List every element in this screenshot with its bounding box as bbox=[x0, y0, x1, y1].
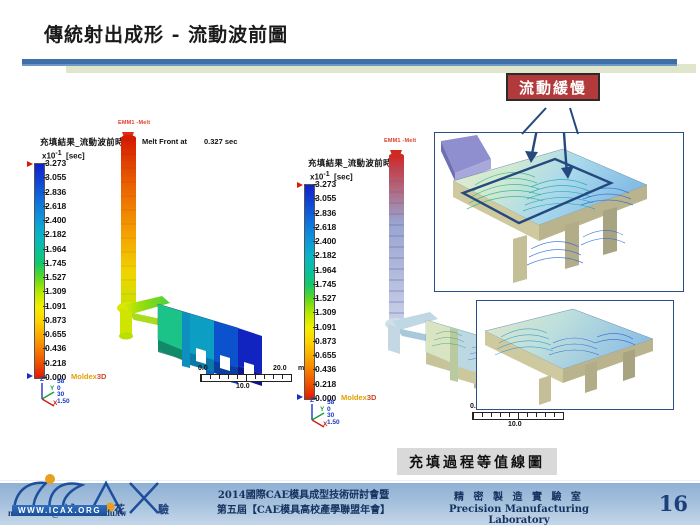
colorbar-tick-label: 0.655 bbox=[45, 330, 66, 339]
colorbar-tick-label: 0.436 bbox=[45, 344, 66, 353]
colorbar-tick-label: 2.836 bbox=[315, 209, 336, 218]
colorbar-tick-label: 2.182 bbox=[315, 251, 336, 260]
colorbar-tick-label: 0.873 bbox=[315, 337, 336, 346]
left-melt-inlet-label: EMM1 -Melt bbox=[118, 120, 150, 126]
left-colorbar-min-arrow-icon bbox=[27, 373, 33, 379]
right-colorbar-min-arrow-icon bbox=[297, 394, 303, 400]
page-title: 傳統射出成形 - 流動波前圖 bbox=[44, 20, 288, 47]
colorbar-tick-label: 1.964 bbox=[45, 245, 66, 254]
right-units-exponent: -1 bbox=[323, 171, 329, 178]
colorbar-tick-label: 3.273 bbox=[315, 180, 336, 189]
right-units-unit: [sec] bbox=[334, 173, 353, 182]
page-number: 16 bbox=[659, 491, 688, 516]
caption-fill-contour: 充填過程等值線圖 bbox=[397, 448, 557, 475]
right-axis-triad: Z Y X 58 0 30 1.50 bbox=[305, 400, 351, 432]
footer-bar: 誠 花 驗 m10205210@mail.ntust.edu.tw WWW.IC… bbox=[0, 481, 700, 525]
right-ruler-bar bbox=[472, 412, 564, 420]
colorbar-tick-label: 2.182 bbox=[45, 230, 66, 239]
left-axis-z: Z bbox=[40, 376, 44, 383]
right-axis-y: Y bbox=[320, 406, 324, 413]
colorbar-tick-label: 2.618 bbox=[315, 223, 336, 232]
footer-website-badge[interactable]: WWW.ICAX.ORG bbox=[12, 505, 107, 516]
colorbar-tick-label: 1.745 bbox=[315, 280, 336, 289]
slide-root: 傳統射出成形 - 流動波前圖 充填結果_流動波前時間 x10-1 [sec] 3… bbox=[0, 0, 700, 525]
svg-text:驗: 驗 bbox=[158, 502, 169, 516]
right-colorbar-max-arrow-icon bbox=[297, 182, 303, 188]
left-ruler-min: 0.0 bbox=[198, 365, 208, 372]
left-ruler-mid: 10.0 bbox=[236, 383, 250, 390]
left-colorbar-gradient bbox=[34, 163, 45, 379]
left-colorbar-max-arrow-icon bbox=[27, 161, 33, 167]
right-axis-values: 58 0 30 1.50 bbox=[327, 400, 340, 426]
colorbar-tick-label: 2.836 bbox=[45, 188, 66, 197]
colorbar-tick-label: 1.745 bbox=[45, 259, 66, 268]
contour-detail-graphic bbox=[477, 301, 671, 407]
colorbar-tick-label: 0.218 bbox=[315, 380, 336, 389]
colorbar-tick-label: 3.273 bbox=[45, 159, 66, 168]
right-ruler-mid: 10.0 bbox=[508, 421, 522, 428]
colorbar-tick-label: 2.400 bbox=[315, 237, 336, 246]
colorbar-tick-label: 3.055 bbox=[315, 194, 336, 203]
colorbar-tick-label: 0.655 bbox=[315, 351, 336, 360]
left-units-exponent: -1 bbox=[55, 150, 61, 157]
colorbar-tick-label: 2.618 bbox=[45, 202, 66, 211]
footer-conference: 2014國際CAE模具成型技術研討會暨 第五屆【CAE模具高校產學聯盟年會】 bbox=[196, 488, 411, 518]
contour-zoom-inset bbox=[434, 132, 684, 292]
footer-conference-line1: 2014國際CAE模具成型技術研討會暨 bbox=[196, 488, 411, 503]
colorbar-tick-label: 1.964 bbox=[315, 266, 336, 275]
right-melt-inlet-label: EMM1 -Melt bbox=[384, 138, 416, 144]
colorbar-tick-label: 1.527 bbox=[45, 273, 66, 282]
colorbar-tick-label: 1.091 bbox=[45, 302, 66, 311]
colorbar-tick-label: 1.527 bbox=[315, 294, 336, 303]
footer-lab-cn: 精 密 製 造 實 驗 室 bbox=[424, 488, 614, 503]
left-ruler-bar bbox=[200, 374, 292, 382]
left-axis-values: 58 0 30 1.50 bbox=[57, 379, 70, 405]
left-units-unit: [sec] bbox=[66, 152, 85, 161]
left-model-3d bbox=[110, 128, 325, 393]
left-axis-triad: Z Y X 58 0 30 1.50 bbox=[35, 379, 81, 411]
colorbar-tick-label: 1.091 bbox=[315, 323, 336, 332]
colorbar-tick-label: 2.400 bbox=[45, 216, 66, 225]
colorbar-tick-label: 1.309 bbox=[45, 287, 66, 296]
right-axis-z: Z bbox=[310, 397, 314, 404]
footer-lab-en: Precision Manufacturing Laboratory bbox=[424, 504, 614, 526]
colorbar-tick-label: 0.436 bbox=[315, 365, 336, 374]
colorbar-tick-label: 0.873 bbox=[45, 316, 66, 325]
colorbar-tick-label: 3.055 bbox=[45, 173, 66, 182]
left-ruler-max: 20.0 bbox=[273, 365, 287, 372]
colorbar-tick-label: 1.309 bbox=[315, 308, 336, 317]
contour-detail-inset bbox=[476, 300, 674, 410]
callout-slow-flow: 流動緩慢 bbox=[506, 73, 600, 101]
left-axis-y: Y bbox=[50, 385, 54, 392]
footer-conference-line2: 第五屆【CAE模具高校產學聯盟年會】 bbox=[196, 503, 411, 518]
colorbar-tick-label: 0.218 bbox=[45, 359, 66, 368]
contour-zoom-graphic bbox=[435, 133, 681, 289]
title-underline-blue bbox=[22, 59, 677, 64]
right-colorbar-gradient bbox=[304, 184, 315, 400]
